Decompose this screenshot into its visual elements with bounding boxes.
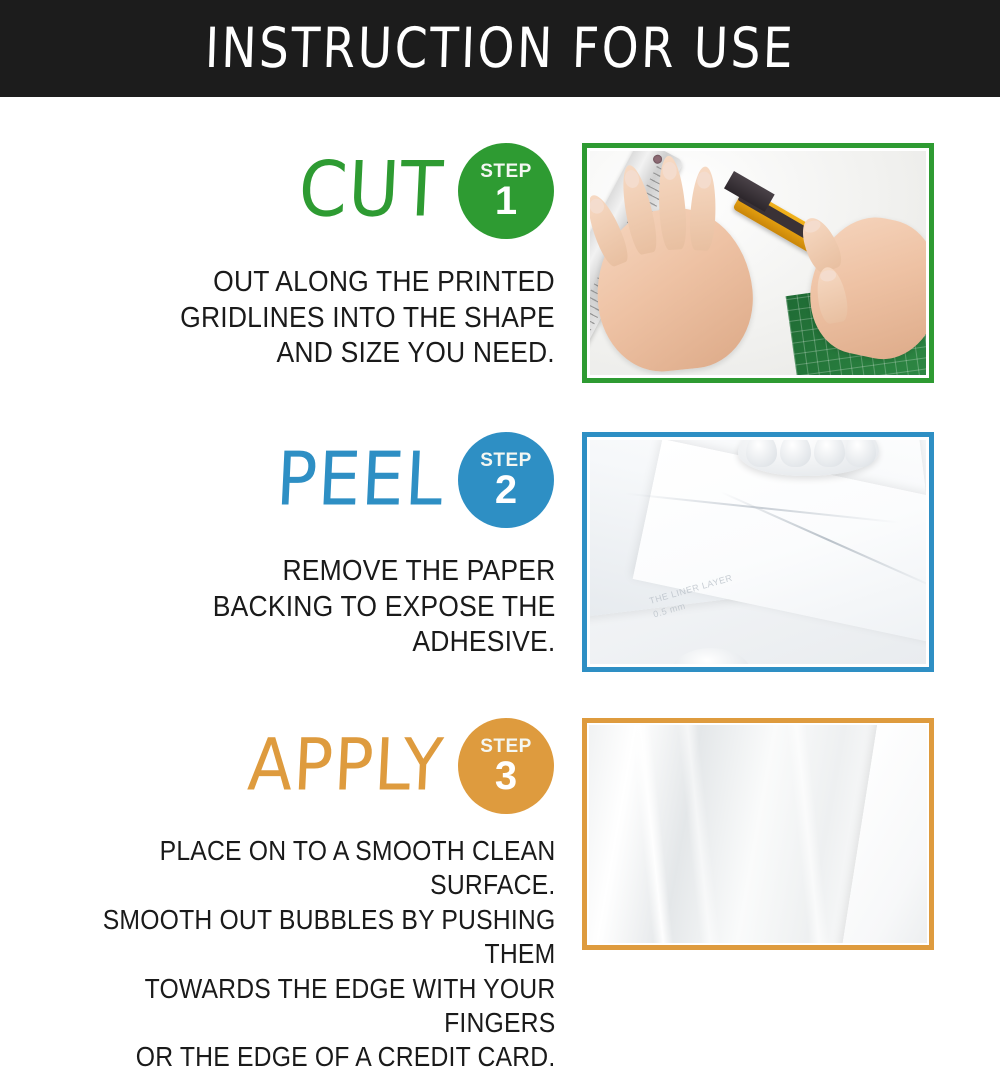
step-row-apply: APPLY STEP 3 PLACE ON TO A SMOOTH CLEAN … <box>0 718 1000 950</box>
glove-knuckle <box>780 440 811 467</box>
step-1-photo-frame <box>582 143 934 383</box>
step-2-badge: STEP 2 <box>458 432 554 528</box>
fingernail <box>697 172 712 189</box>
step-1-photo-cutting <box>590 151 926 375</box>
step-2-headline: PEEL STEP 2 <box>0 432 568 528</box>
fingernail <box>590 197 606 216</box>
step-3-badge: STEP 3 <box>458 718 554 814</box>
step-3-body-text: PLACE ON TO A SMOOTH CLEAN SURFACE. SMOO… <box>57 834 568 1075</box>
step-3-photo-frame <box>582 718 934 950</box>
step-3-badge-number: 3 <box>495 757 517 795</box>
finger <box>655 155 688 250</box>
step-3-word: APPLY <box>246 730 460 802</box>
step-1-text-column: CUT STEP 1 OUT ALONG THE PRINTED GRIDLIN… <box>0 143 568 383</box>
step-2-word: PEEL <box>275 443 460 517</box>
step-2-badge-number: 2 <box>495 471 517 509</box>
finger <box>688 166 717 251</box>
glove-knuckle <box>746 440 777 467</box>
step-1-badge-number: 1 <box>495 182 517 220</box>
fingernail <box>662 161 678 181</box>
fingernail <box>802 219 822 236</box>
step-2-photo-peeling: THE LINER LAYER 0.5 mm <box>590 440 926 664</box>
step-1-headline: CUT STEP 1 <box>0 143 568 239</box>
step-1-badge: STEP 1 <box>458 143 554 239</box>
step-2-text-column: PEEL STEP 2 REMOVE THE PAPER BACKING TO … <box>0 432 568 672</box>
glove-knuckle <box>845 440 876 467</box>
step-1-body-text: OUT ALONG THE PRINTED GRIDLINES INTO THE… <box>180 265 568 372</box>
fingernail <box>819 270 836 284</box>
step-3-photo-glossy-sheet <box>589 725 927 943</box>
finger <box>812 265 849 325</box>
step-2-photo-frame: THE LINER LAYER 0.5 mm <box>582 432 934 672</box>
step-3-text-column: APPLY STEP 3 PLACE ON TO A SMOOTH CLEAN … <box>0 718 568 950</box>
header-banner: INSTRUCTION FOR USE <box>0 0 1000 97</box>
step-3-headline: APPLY STEP 3 <box>0 718 568 814</box>
step-row-peel: PEEL STEP 2 REMOVE THE PAPER BACKING TO … <box>0 432 1000 672</box>
left-hand <box>590 202 759 375</box>
gloved-hand-lower <box>671 648 752 664</box>
step-2-body-text: REMOVE THE PAPER BACKING TO EXPOSE THE A… <box>212 554 568 661</box>
step-1-word: CUT <box>297 153 460 229</box>
glove-knuckle <box>814 440 845 467</box>
page-title: INSTRUCTION FOR USE <box>204 21 796 76</box>
step-row-cut: CUT STEP 1 OUT ALONG THE PRINTED GRIDLIN… <box>0 143 1000 383</box>
